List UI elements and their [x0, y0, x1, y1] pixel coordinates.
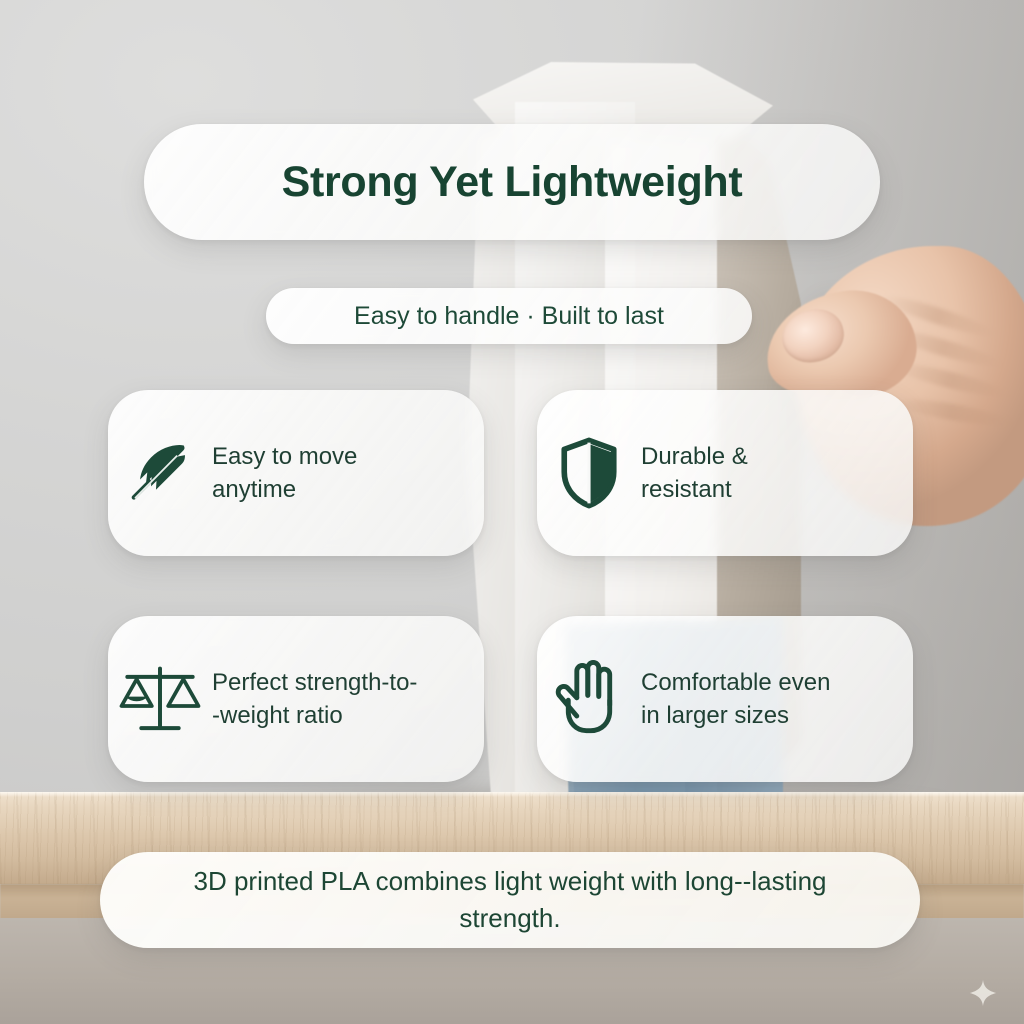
open-hand-icon	[537, 649, 641, 749]
infographic-canvas: Strong Yet Lightweight Easy to handle · …	[0, 0, 1024, 1024]
page-title: Strong Yet Lightweight	[282, 158, 743, 207]
feature-label-line2: anytime	[212, 473, 357, 506]
feature-label: Easy to move anytime	[212, 440, 357, 506]
footer-pill: 3D printed PLA combines light weight wit…	[100, 852, 920, 948]
subtitle-pill: Easy to handle · Built to last	[266, 288, 752, 344]
footer-text: 3D printed PLA combines light weight wit…	[180, 863, 840, 937]
wood-shelf-edge	[0, 792, 1024, 797]
balance-scale-icon	[108, 649, 212, 749]
feature-card-durable[interactable]: Durable & resistant	[537, 390, 913, 556]
feature-label-line2: in larger sizes	[641, 699, 830, 732]
feature-label-line2: -weight ratio	[212, 699, 417, 732]
feature-label: Comfortable even in larger sizes	[641, 666, 830, 732]
title-pill: Strong Yet Lightweight	[144, 124, 880, 240]
page-subtitle: Easy to handle · Built to last	[354, 302, 664, 331]
feature-label: Perfect strength-to- -weight ratio	[212, 666, 417, 732]
feature-label: Durable & resistant	[641, 440, 748, 506]
feature-label-line1: Easy to move	[212, 440, 357, 473]
feature-label-line1: Comfortable even	[641, 666, 830, 699]
feature-card-strength-to-weight[interactable]: Perfect strength-to- -weight ratio	[108, 616, 484, 782]
feature-card-easy-to-move[interactable]: Easy to move anytime	[108, 390, 484, 556]
feature-label-line1: Perfect strength-to-	[212, 666, 417, 699]
feature-card-comfortable[interactable]: Comfortable even in larger sizes	[537, 616, 913, 782]
shield-icon	[537, 423, 641, 523]
feature-label-line2: resistant	[641, 473, 748, 506]
feature-label-line1: Durable &	[641, 440, 748, 473]
sparkle-icon	[968, 978, 998, 1008]
feather-icon	[108, 423, 212, 523]
